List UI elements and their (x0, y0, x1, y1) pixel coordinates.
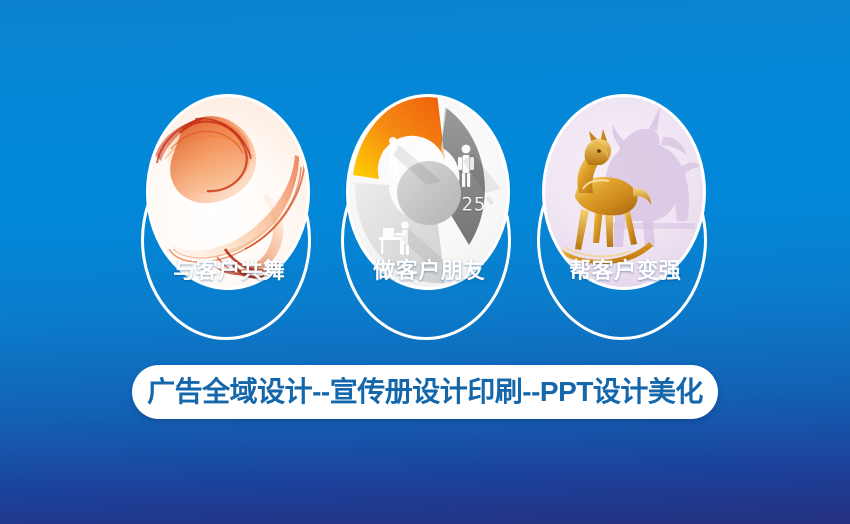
stat-percentage: 25% (461, 193, 494, 215)
circle-caption: 做客户朋友 (336, 258, 522, 284)
caption-thin: 与客户 (173, 258, 241, 283)
feature-circle-strengthen-client[interactable]: 帮客户变强 (532, 92, 718, 342)
caption-bold: 朋友 (441, 258, 485, 283)
stat-unit: % (486, 193, 494, 206)
caption-bold: 共舞 (241, 258, 285, 283)
promo-banner-stage: 与客户共舞 (0, 0, 850, 524)
caption-thin: 做客户 (373, 258, 441, 283)
banner-text: 广告全域设计--宣传册设计印刷--PPT设计美化 (147, 377, 703, 407)
feature-circle-befriend-client[interactable]: 25% 做客户朋友 (336, 92, 522, 342)
feature-circle-dance-with-client[interactable]: 与客户共舞 (136, 92, 322, 342)
caption-thin: 帮客户 (569, 258, 637, 283)
circle-caption: 帮客户变强 (532, 258, 718, 284)
bottom-banner[interactable]: 广告全域设计--宣传册设计印刷--PPT设计美化 (132, 365, 718, 419)
stat-value: 25 (461, 193, 486, 215)
circle-caption: 与客户共舞 (136, 258, 322, 284)
caption-bold: 变强 (637, 258, 681, 283)
